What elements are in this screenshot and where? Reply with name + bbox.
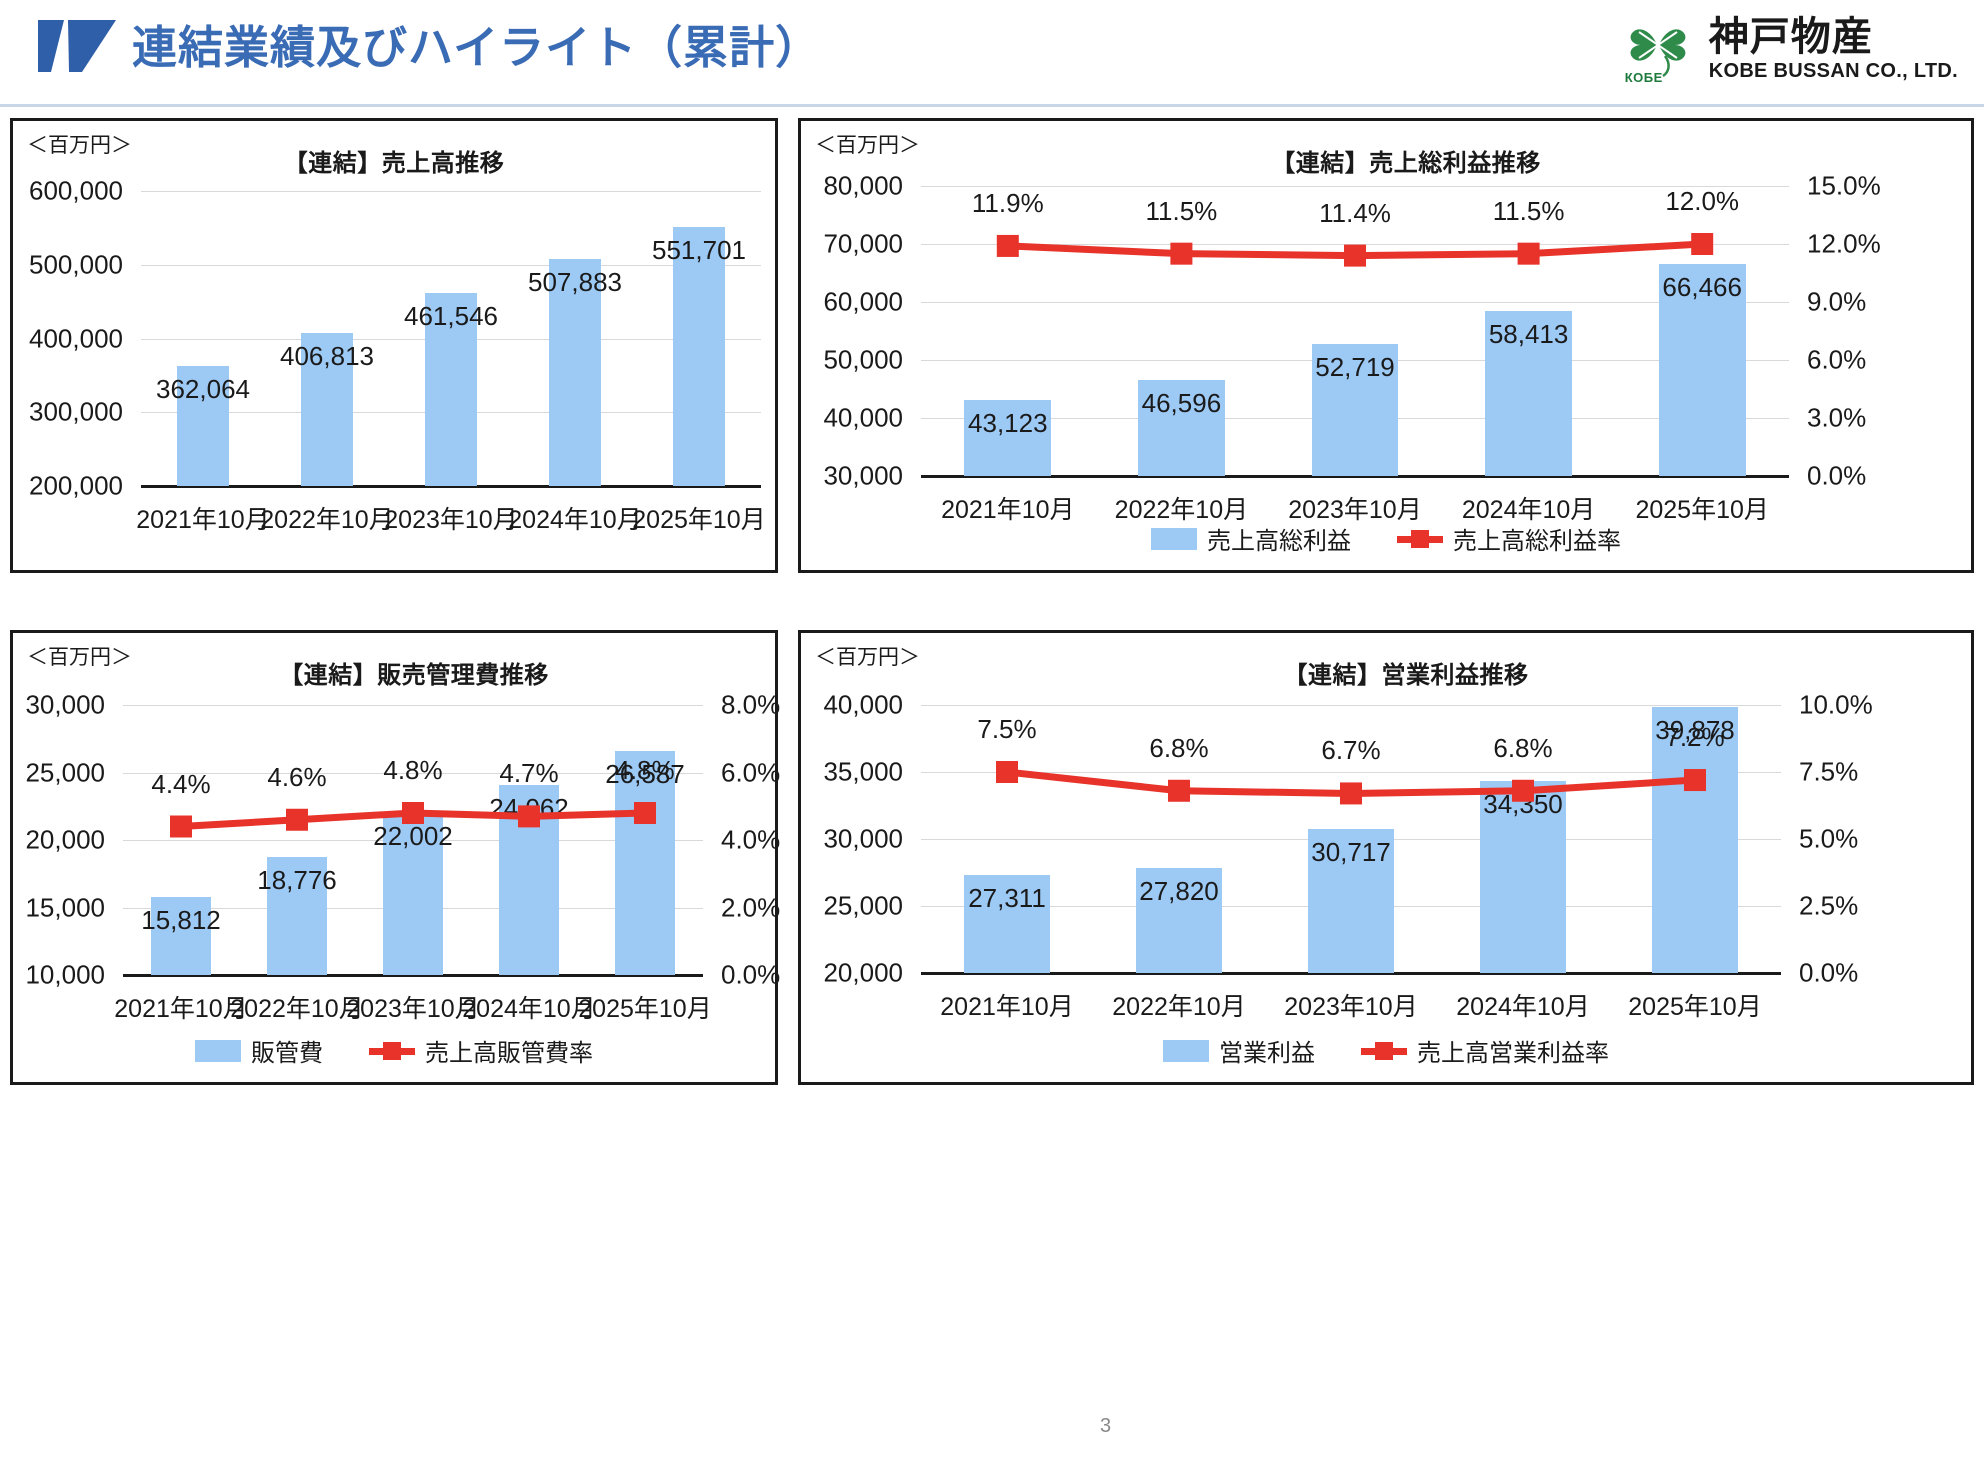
- line-value-label: 4.4%: [151, 769, 210, 800]
- line-value-label: 11.9%: [972, 188, 1044, 219]
- x-axis-tick: 2022年10月: [230, 989, 363, 1025]
- x-axis-tick: 2024年10月: [462, 989, 595, 1025]
- gridline: [921, 244, 1789, 245]
- y-axis-tick-left: 30,000: [0, 690, 105, 721]
- legend-bar-swatch-icon: [1163, 1040, 1209, 1062]
- y-axis-tick-right: 3.0%: [1807, 403, 1947, 434]
- y-axis-tick-right: 0.0%: [1807, 461, 1947, 492]
- chart-title: 【連結】販売管理費推移: [13, 655, 775, 690]
- chart-legend: 販管費売上高販管費率: [13, 1033, 775, 1068]
- brand-name-jp: 神戸物産: [1709, 15, 1958, 59]
- y-axis-tick-right: 15.0%: [1807, 171, 1947, 202]
- legend-line-swatch-icon: [1397, 528, 1443, 550]
- x-axis-tick: 2021年10月: [114, 989, 247, 1025]
- legend-line-swatch-icon: [369, 1040, 415, 1062]
- x-axis-tick: 2021年10月: [940, 987, 1073, 1023]
- y-axis-tick-left: 400,000: [0, 323, 123, 354]
- bar-value-label: 24,062: [489, 793, 569, 824]
- line-value-label: 12.0%: [1665, 186, 1739, 217]
- y-axis-tick-left: 40,000: [743, 403, 903, 434]
- bar-value-label: 66,466: [1662, 272, 1742, 303]
- chart-legend: 売上高総利益売上高総利益率: [801, 521, 1971, 556]
- y-axis-tick-left: 80,000: [743, 171, 903, 202]
- x-axis-tick: 2024年10月: [1456, 987, 1589, 1023]
- legend-item[interactable]: 売上高営業利益率: [1361, 1033, 1609, 1068]
- line-value-label: 11.4%: [1319, 198, 1391, 229]
- line-value-label: 7.5%: [977, 714, 1036, 745]
- legend-line-swatch-icon: [1361, 1040, 1407, 1062]
- line-value-label: 6.8%: [1149, 733, 1208, 764]
- chart-panel-operating-profit: ＜百万円＞【連結】営業利益推移20,00025,00030,00035,0004…: [798, 630, 1974, 1085]
- bar-value-label: 34,350: [1483, 789, 1563, 820]
- y-axis-tick-left: 200,000: [0, 471, 123, 502]
- legend-label: 売上高総利益: [1207, 521, 1351, 556]
- bar-value-label: 27,311: [968, 883, 1046, 914]
- plot-area: 10,00015,00020,00025,00030,0000.0%2.0%4.…: [123, 705, 703, 975]
- legend-label: 売上高総利益率: [1453, 521, 1621, 556]
- legend-label: 売上高販管費率: [425, 1033, 593, 1068]
- y-axis-tick-right: 12.0%: [1807, 229, 1947, 260]
- line-value-label: 11.5%: [1145, 196, 1217, 227]
- chart-legend: 営業利益売上高営業利益率: [801, 1033, 1971, 1068]
- x-axis-tick: 2022年10月: [260, 500, 393, 536]
- x-axis-tick: 2023年10月: [346, 989, 479, 1025]
- x-axis-tick: 2023年10月: [384, 500, 517, 536]
- four-leaf-clover-icon: КОБЕ: [1621, 12, 1695, 86]
- bar-value-label: 58,413: [1489, 319, 1569, 350]
- x-axis-tick: 2024年10月: [508, 500, 641, 536]
- line-value-label: 6.8%: [1493, 733, 1552, 764]
- bar-value-label: 18,776: [257, 865, 337, 896]
- legend-label: 営業利益: [1219, 1033, 1315, 1068]
- double-chevron-mark-icon: [38, 20, 116, 72]
- gridline: [141, 191, 761, 192]
- legend-item[interactable]: 売上高総利益: [1151, 521, 1351, 556]
- y-axis-tick-left: 60,000: [743, 287, 903, 318]
- bar-value-label: 507,883: [528, 267, 622, 298]
- legend-item[interactable]: 営業利益: [1163, 1033, 1315, 1068]
- y-axis-tick-left: 40,000: [743, 690, 903, 721]
- y-axis-tick-left: 20,000: [0, 825, 105, 856]
- y-axis-tick-left: 15,000: [0, 892, 105, 923]
- line-value-label: 4.6%: [267, 762, 326, 793]
- y-axis-tick-left: 25,000: [0, 757, 105, 788]
- y-axis-tick-left: 70,000: [743, 229, 903, 260]
- brand-name-en: KOBE BUSSAN CO., LTD.: [1709, 59, 1958, 83]
- plot-area: 30,00040,00050,00060,00070,00080,0000.0%…: [921, 186, 1789, 476]
- chart-title: 【連結】売上高推移: [13, 143, 775, 178]
- y-axis-tick-right: 6.0%: [1807, 345, 1947, 376]
- bar-value-label: 362,064: [156, 374, 250, 405]
- chart-panel-net-sales: ＜百万円＞【連結】売上高推移200,000300,000400,000500,0…: [10, 118, 778, 573]
- page-header: 連結業績及びハイライト（累計） КОБЕ 神戸物産 KOBE BUSSAN CO…: [0, 0, 1984, 107]
- x-axis-tick: 2025年10月: [632, 500, 765, 536]
- bar-value-label: 461,546: [404, 301, 498, 332]
- y-axis-tick-left: 500,000: [0, 249, 123, 280]
- x-axis-tick: 2023年10月: [1284, 987, 1417, 1023]
- page-number: 3: [1100, 1415, 1111, 1438]
- y-axis-tick-left: 35,000: [743, 757, 903, 788]
- clover-kobe-label: КОБЕ: [1625, 70, 1663, 85]
- x-axis-tick: 2022年10月: [1112, 987, 1245, 1023]
- legend-bar-swatch-icon: [195, 1040, 241, 1062]
- bar-value-label: 27,820: [1139, 876, 1219, 907]
- page-title: 連結業績及びハイライト（累計）: [132, 12, 821, 84]
- line-value-label: 4.8%: [615, 755, 674, 786]
- y-axis-tick-left: 25,000: [743, 891, 903, 922]
- bar-value-label: 52,719: [1315, 352, 1395, 383]
- y-axis-tick-left: 600,000: [0, 176, 123, 207]
- chart-title: 【連結】売上総利益推移: [801, 143, 1971, 178]
- legend-bar-swatch-icon: [1151, 528, 1197, 550]
- bar-value-label: 46,596: [1142, 388, 1222, 419]
- line-value-label: 6.7%: [1321, 735, 1380, 766]
- bar-value-label: 406,813: [280, 341, 374, 372]
- line-value-label: 4.7%: [499, 758, 558, 789]
- legend-item[interactable]: 売上高総利益率: [1397, 521, 1621, 556]
- line-value-label: 11.5%: [1493, 196, 1565, 227]
- legend-item[interactable]: 販管費: [195, 1033, 323, 1068]
- y-axis-tick-left: 50,000: [743, 345, 903, 376]
- chart-title: 【連結】営業利益推移: [801, 655, 1971, 690]
- gridline: [123, 705, 703, 706]
- y-axis-tick-right: 10.0%: [1799, 690, 1939, 721]
- y-axis-tick-left: 30,000: [743, 824, 903, 855]
- legend-item[interactable]: 売上高販管費率: [369, 1033, 593, 1068]
- plot-area: 200,000300,000400,000500,000600,000362,0…: [141, 191, 761, 486]
- y-axis-tick-left: 30,000: [743, 461, 903, 492]
- bar-value-label: 15,812: [141, 905, 221, 936]
- bar-value-label: 551,701: [652, 235, 746, 266]
- legend-label: 売上高営業利益率: [1417, 1033, 1609, 1068]
- company-logo: КОБЕ 神戸物産 KOBE BUSSAN CO., LTD.: [1621, 10, 1958, 88]
- y-axis-tick-left: 10,000: [0, 960, 105, 991]
- x-axis-tick: 2021年10月: [136, 500, 269, 536]
- line-value-label: 4.8%: [383, 755, 442, 786]
- bar-value-label: 30,717: [1311, 837, 1391, 868]
- y-axis-tick-right: 5.0%: [1799, 824, 1939, 855]
- x-axis-tick: 2025年10月: [578, 989, 711, 1025]
- chart-panel-gross-profit: ＜百万円＞【連結】売上総利益推移30,00040,00050,00060,000…: [798, 118, 1974, 573]
- y-axis-tick-right: 0.0%: [1799, 958, 1939, 989]
- y-axis-tick-right: 2.5%: [1799, 891, 1939, 922]
- chart-panel-sga-expenses: ＜百万円＞【連結】販売管理費推移10,00015,00020,00025,000…: [10, 630, 778, 1085]
- legend-label: 販管費: [251, 1033, 323, 1068]
- bar-value-label: 43,123: [968, 408, 1048, 439]
- y-axis-tick-left: 300,000: [0, 397, 123, 428]
- y-axis-tick-right: 7.5%: [1799, 757, 1939, 788]
- line-value-label: 7.2%: [1665, 722, 1724, 753]
- y-axis-tick-right: 9.0%: [1807, 287, 1947, 318]
- plot-area: 20,00025,00030,00035,00040,0000.0%2.5%5.…: [921, 705, 1781, 973]
- y-axis-tick-left: 20,000: [743, 958, 903, 989]
- x-axis-tick: 2025年10月: [1628, 987, 1761, 1023]
- bar-value-label: 22,002: [373, 821, 453, 852]
- gridline: [921, 186, 1789, 187]
